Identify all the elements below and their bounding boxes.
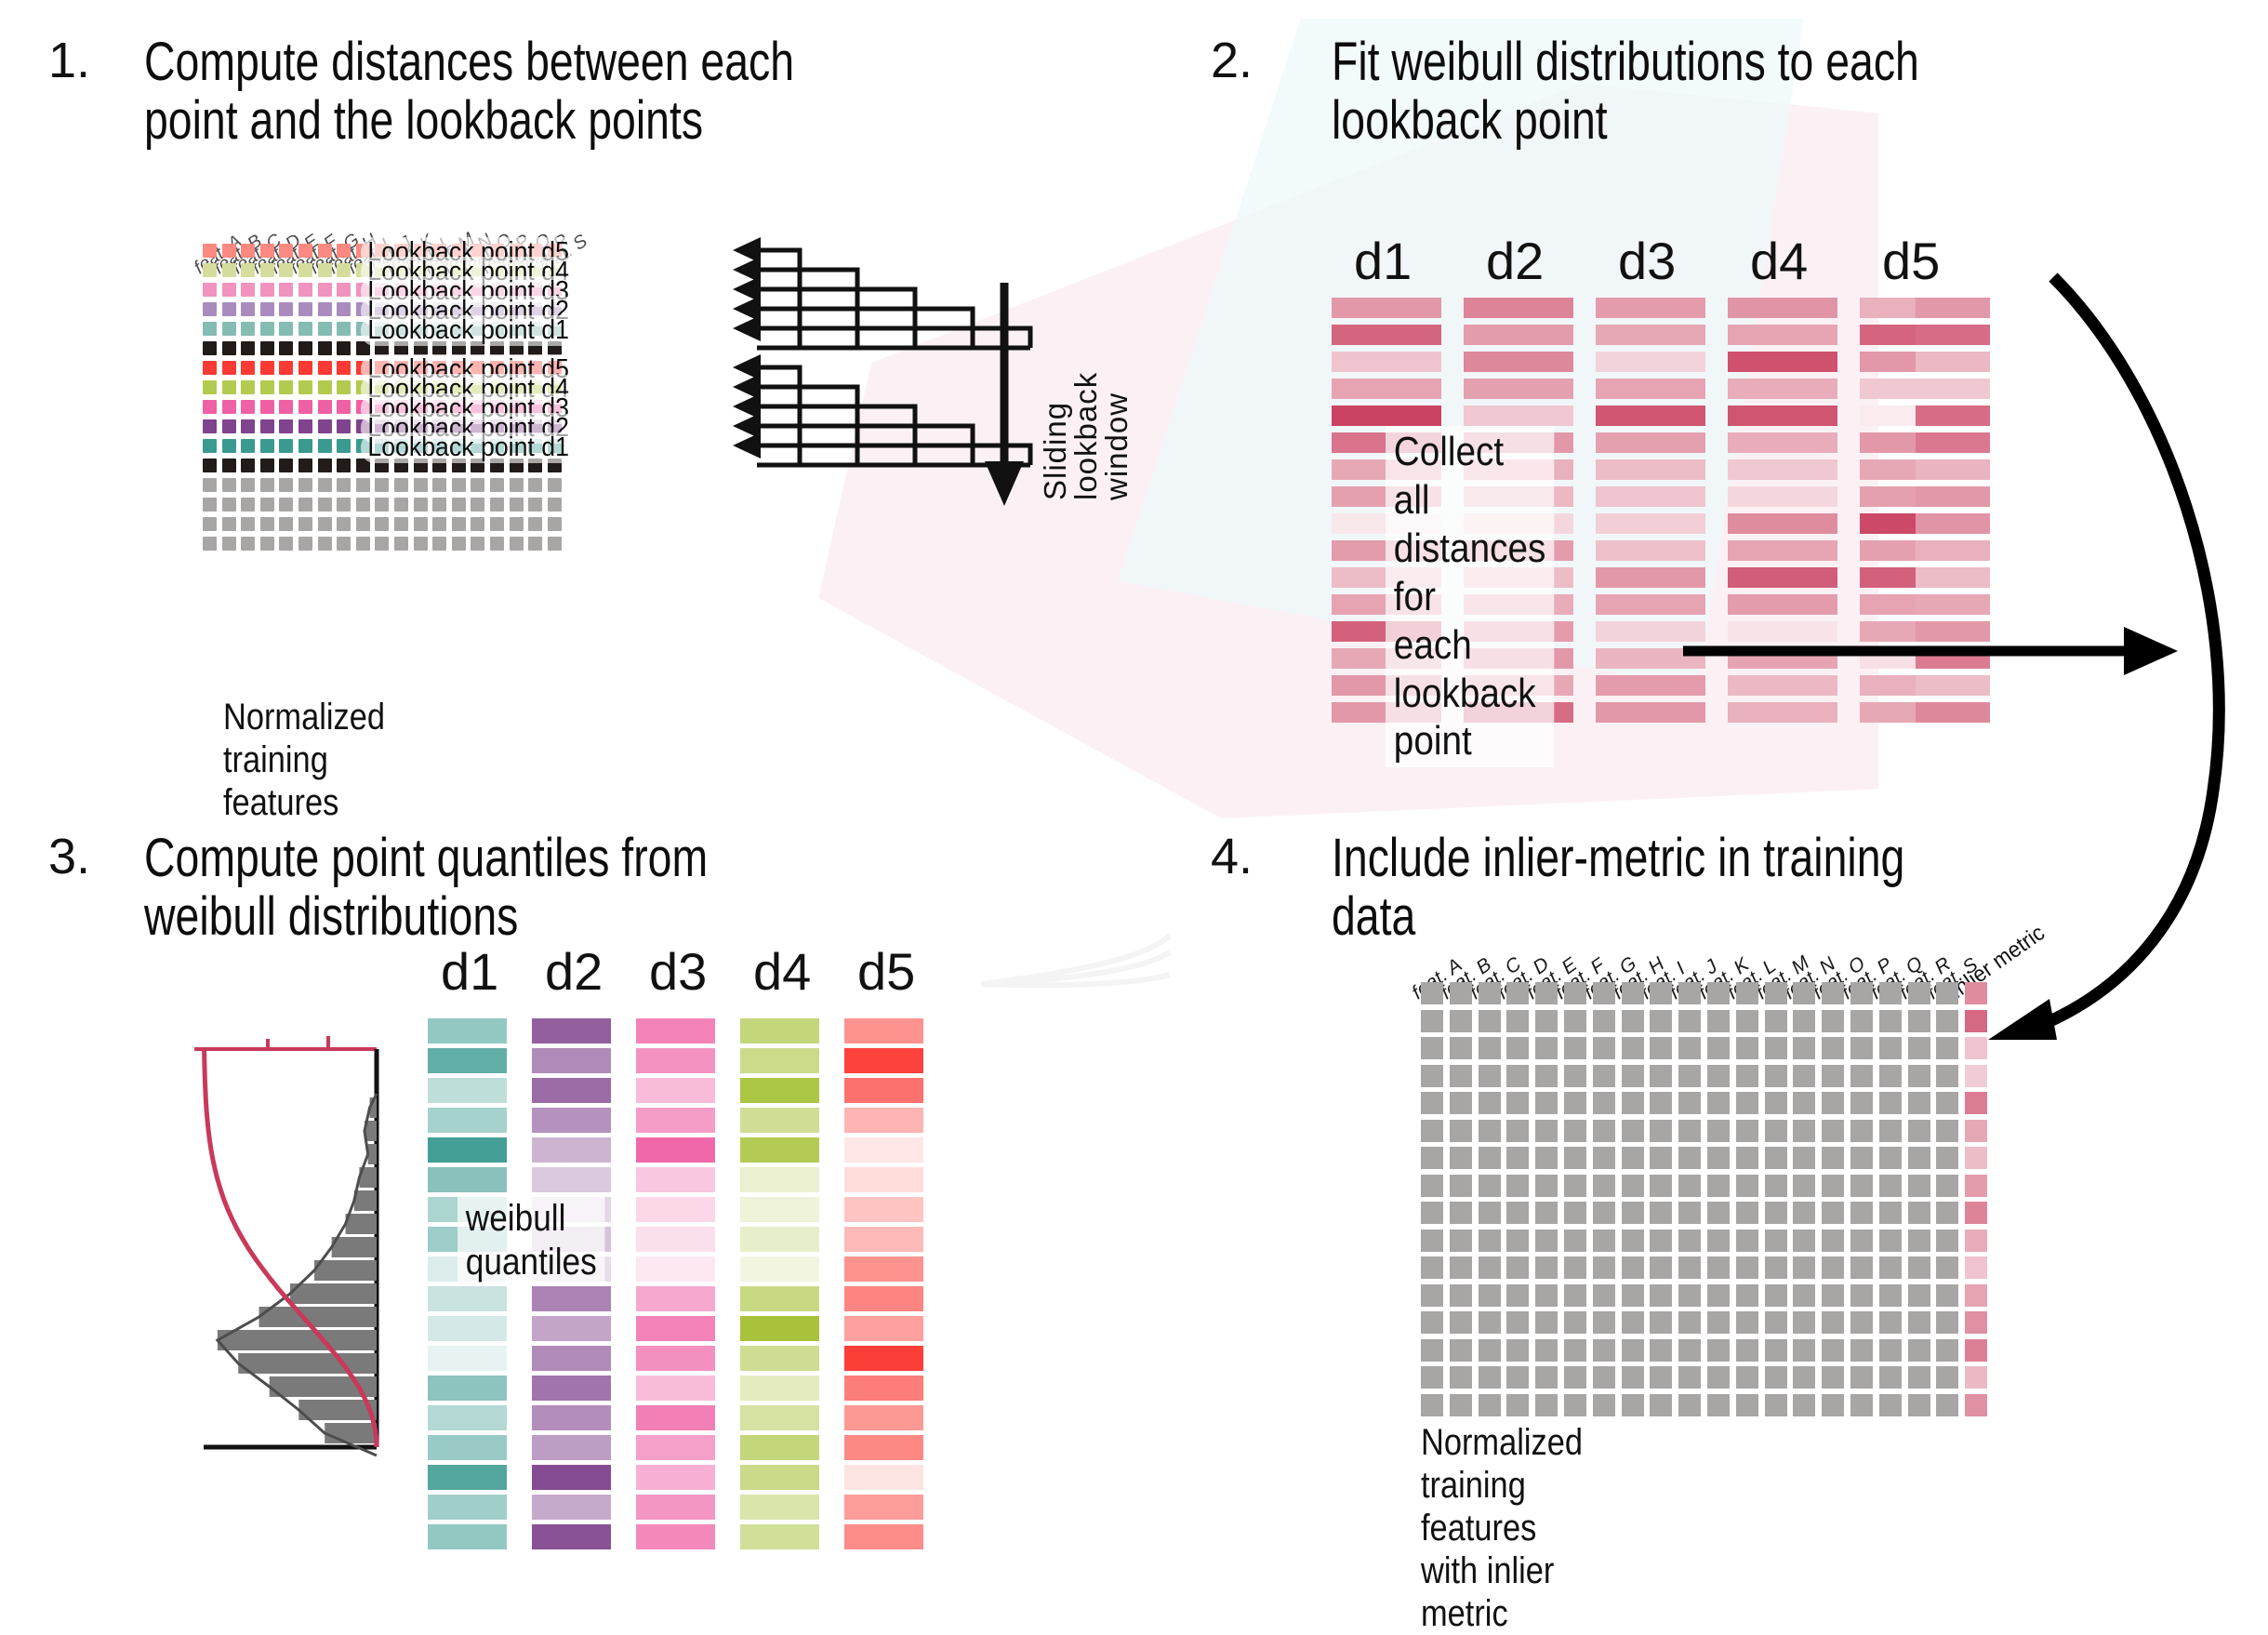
heatmap-cell bbox=[1879, 1120, 1902, 1142]
collect-distances-label: weibull quantiles bbox=[458, 1195, 604, 1286]
heatmap-cell bbox=[1564, 1230, 1586, 1252]
distance-cell bbox=[740, 1376, 819, 1401]
heatmap-cell bbox=[260, 322, 274, 336]
quantile-cell bbox=[1596, 298, 1705, 318]
heatmap-cell bbox=[260, 380, 274, 394]
heatmap-cell bbox=[260, 498, 274, 512]
heatmap-cell bbox=[1564, 1284, 1586, 1307]
step-1-number: 1. bbox=[48, 32, 90, 89]
table-row bbox=[203, 498, 566, 512]
distance-cell bbox=[428, 1108, 507, 1133]
heatmap-cell bbox=[548, 517, 562, 531]
heatmap-cell bbox=[1450, 1037, 1472, 1059]
heatmap-cell bbox=[1793, 1065, 1815, 1087]
heatmap-cell bbox=[1936, 1394, 1958, 1416]
heatmap-cell bbox=[1936, 1202, 1958, 1224]
heatmap-cell bbox=[337, 380, 351, 394]
distance-cell bbox=[844, 1495, 923, 1520]
heatmap-cell bbox=[1908, 1037, 1930, 1059]
distance-cell bbox=[740, 1346, 819, 1371]
quantile-cell bbox=[1728, 540, 1837, 561]
heatmap-cell bbox=[1535, 1256, 1558, 1279]
heatmap-cell bbox=[1850, 1147, 1873, 1169]
heatmap-cell bbox=[1736, 1037, 1758, 1059]
heatmap-cell bbox=[1908, 1147, 1930, 1169]
histogram-bar bbox=[325, 1423, 377, 1443]
heatmap-cell bbox=[1822, 1037, 1844, 1059]
heatmap-cell bbox=[1450, 982, 1472, 1004]
histogram-bar bbox=[314, 1260, 377, 1281]
lookback-point-caption: Lookback point d1 bbox=[361, 432, 576, 463]
heatmap-cell bbox=[1535, 1202, 1558, 1224]
heatmap-cell bbox=[1650, 1339, 1672, 1362]
heatmap-cell bbox=[241, 439, 255, 453]
heatmap-cell bbox=[1479, 1230, 1501, 1252]
heatmap-cell bbox=[1707, 1284, 1730, 1307]
heatmap-cell bbox=[1450, 1010, 1472, 1032]
lookback-point-caption: Lookback point d1 bbox=[361, 315, 576, 346]
heatmap-cell bbox=[1506, 1256, 1529, 1279]
heatmap-cell bbox=[432, 517, 446, 531]
heatmap-cell bbox=[279, 302, 293, 316]
heatmap-cell bbox=[279, 537, 293, 551]
quantile-cell bbox=[1464, 298, 1573, 318]
heatmap-cell bbox=[548, 478, 562, 492]
heatmap-cell bbox=[1908, 1092, 1930, 1114]
heatmap-cell bbox=[1479, 1092, 1501, 1114]
heatmap-cell bbox=[1506, 1366, 1529, 1389]
distance-cell bbox=[740, 1435, 819, 1460]
heatmap-cell bbox=[1479, 1147, 1501, 1169]
heatmap-cell bbox=[1908, 1284, 1930, 1307]
heatmap-cell bbox=[1535, 1394, 1558, 1416]
heatmap-cell bbox=[414, 498, 428, 512]
distance-cell bbox=[428, 1167, 507, 1192]
heatmap-cell bbox=[1678, 1092, 1701, 1114]
heatmap-cell bbox=[1450, 1284, 1472, 1307]
distance-cell bbox=[428, 1405, 507, 1430]
heatmap-cell bbox=[1421, 1394, 1443, 1416]
heatmap-cell bbox=[318, 419, 332, 433]
heatmap-cell bbox=[375, 478, 389, 492]
heatmap-cell bbox=[279, 244, 293, 258]
heatmap-cell bbox=[1564, 1010, 1586, 1032]
heatmap-cell bbox=[298, 459, 312, 472]
heatmap-cell bbox=[222, 361, 236, 375]
heatmap-cell bbox=[318, 302, 332, 316]
heatmap-cell bbox=[241, 419, 255, 433]
heatmap-cell bbox=[1421, 1092, 1443, 1114]
heatmap-cell bbox=[279, 478, 293, 492]
heatmap-cell bbox=[1479, 1120, 1501, 1142]
quantile-cell bbox=[1596, 352, 1705, 372]
heatmap-cell bbox=[279, 439, 293, 453]
heatmap-cell bbox=[1535, 1037, 1558, 1059]
distance-cell bbox=[532, 1286, 611, 1311]
quantile-cell bbox=[1332, 379, 1441, 399]
heatmap-cell bbox=[1707, 1010, 1730, 1032]
inlier-metric-cell bbox=[1965, 1284, 1987, 1307]
heatmap-cell bbox=[414, 537, 428, 551]
heatmap-cell bbox=[1678, 1311, 1701, 1334]
heatmap-cell bbox=[1908, 1010, 1930, 1032]
heatmap-cell bbox=[1622, 1339, 1644, 1362]
heatmap-cell bbox=[375, 498, 389, 512]
heatmap-cell bbox=[1793, 1230, 1815, 1252]
heatmap-cell bbox=[1936, 1366, 1958, 1389]
heatmap-cell bbox=[1535, 1147, 1558, 1169]
distance-cell bbox=[740, 1078, 819, 1103]
heatmap-cell bbox=[1564, 1202, 1586, 1224]
table-row bbox=[203, 478, 566, 492]
distance-cell bbox=[844, 1405, 923, 1430]
heatmap-cell bbox=[1765, 1284, 1787, 1307]
heatmap-cell bbox=[1622, 1092, 1644, 1114]
sliding-window-arrow-icon bbox=[978, 279, 1043, 512]
weibull-cdf-plot bbox=[191, 1042, 386, 1451]
heatmap-cell bbox=[1793, 1175, 1815, 1197]
distance-cell bbox=[636, 1405, 715, 1430]
heatmap-cell bbox=[1850, 1202, 1873, 1224]
distance-cell bbox=[636, 1524, 715, 1549]
distance-cell bbox=[740, 1316, 819, 1341]
heatmap-cell bbox=[1506, 1175, 1529, 1197]
heatmap-cell bbox=[414, 517, 428, 531]
heatmap-cell bbox=[1506, 1394, 1529, 1416]
heatmap-cell bbox=[1850, 1120, 1873, 1142]
distance-cell bbox=[532, 1524, 611, 1549]
heatmap-cell bbox=[318, 400, 332, 414]
heatmap-cell bbox=[260, 517, 274, 531]
lookback-bracket bbox=[757, 406, 915, 465]
heatmap-cell bbox=[1650, 1256, 1672, 1279]
heatmap-cell bbox=[1450, 1065, 1472, 1087]
quantile-cell bbox=[1728, 486, 1837, 507]
heatmap-cell bbox=[1593, 1339, 1615, 1362]
heatmap-cell bbox=[1506, 1284, 1529, 1307]
heatmap-cell bbox=[1678, 1202, 1701, 1224]
distance-cell bbox=[636, 1048, 715, 1073]
heatmap-cell bbox=[203, 283, 217, 297]
heatmap-cell bbox=[1678, 1175, 1701, 1197]
heatmap-cell bbox=[1622, 1256, 1644, 1279]
heatmap-cell bbox=[1765, 1065, 1787, 1087]
heatmap-cell bbox=[260, 419, 274, 433]
heatmap-cell bbox=[318, 517, 332, 531]
heatmap-cell bbox=[1850, 1311, 1873, 1334]
heatmap-cell bbox=[279, 517, 293, 531]
watermark bbox=[986, 1153, 1046, 1474]
heatmap-cell bbox=[1593, 1010, 1615, 1032]
heatmap-cell bbox=[1765, 1339, 1787, 1362]
heatmap-cell bbox=[318, 380, 332, 394]
heatmap-cell bbox=[1765, 1366, 1787, 1389]
quantile-cell bbox=[1332, 298, 1441, 318]
heatmap-cell bbox=[1736, 1202, 1758, 1224]
heatmap-cell bbox=[1850, 1256, 1873, 1279]
distance-cell bbox=[428, 1286, 507, 1311]
heatmap-cell bbox=[1765, 1092, 1787, 1114]
heatmap-cell bbox=[1450, 1202, 1472, 1224]
heatmap-cell bbox=[260, 537, 274, 551]
heatmap-cell bbox=[1765, 1311, 1787, 1334]
heatmap-cell bbox=[1908, 1175, 1930, 1197]
heatmap-cell bbox=[337, 283, 351, 297]
inlier-metric-cell bbox=[1965, 1065, 1987, 1087]
heatmap-cell bbox=[318, 322, 332, 336]
quantile-cell bbox=[1596, 325, 1705, 345]
heatmap-cell bbox=[432, 537, 446, 551]
heatmap-cell bbox=[1650, 1037, 1672, 1059]
heatmap-cell bbox=[260, 459, 274, 472]
distance-cell bbox=[740, 1524, 819, 1549]
heatmap-cell bbox=[1593, 1175, 1615, 1197]
heatmap-cell bbox=[260, 263, 274, 277]
weibull-quantiles-label: Collect all distances for each lookback … bbox=[1386, 426, 1554, 767]
quantile-cell bbox=[1728, 567, 1837, 588]
heatmap-cell bbox=[1822, 1202, 1844, 1224]
heatmap-cell bbox=[1822, 1394, 1844, 1416]
heatmap-cell bbox=[1879, 1256, 1902, 1279]
heatmap-cell bbox=[1936, 1120, 1958, 1142]
heatmap-cell bbox=[1535, 1175, 1558, 1197]
heatmap-cell bbox=[1650, 1092, 1672, 1114]
heatmap-cell bbox=[490, 498, 504, 512]
heatmap-cell bbox=[1506, 1092, 1529, 1114]
heatmap-cell bbox=[298, 322, 312, 336]
heatmap-cell bbox=[1421, 1311, 1443, 1334]
heatmap-cell bbox=[1678, 1366, 1701, 1389]
heatmap-cell bbox=[222, 498, 236, 512]
heatmap-cell bbox=[298, 283, 312, 297]
heatmap-cell bbox=[1822, 1284, 1844, 1307]
quantile-cell bbox=[1332, 352, 1441, 372]
heatmap-cell bbox=[1622, 1065, 1644, 1087]
sliding-window-label: Sliding lookback window bbox=[1040, 277, 1132, 500]
distance-cell bbox=[740, 1018, 819, 1043]
heatmap-cell bbox=[1593, 1366, 1615, 1389]
heatmap-cell bbox=[1793, 1284, 1815, 1307]
heatmap-cell bbox=[337, 341, 351, 355]
panel3-column-label: d4 bbox=[1750, 231, 1808, 291]
distance-cell bbox=[844, 1197, 923, 1222]
quantile-cell bbox=[1596, 702, 1705, 723]
heatmap-cell bbox=[1850, 1339, 1873, 1362]
heatmap-cell bbox=[222, 419, 236, 433]
heatmap-cell bbox=[1736, 1366, 1758, 1389]
quantile-cell bbox=[1332, 405, 1441, 426]
heatmap-cell bbox=[222, 322, 236, 336]
heatmap-cell bbox=[1822, 1065, 1844, 1087]
heatmap-cell bbox=[1936, 1256, 1958, 1279]
heatmap-cell bbox=[471, 498, 484, 512]
distance-cell bbox=[636, 1167, 715, 1192]
step-4-number: 4. bbox=[1211, 828, 1253, 885]
heatmap-cell bbox=[1908, 1202, 1930, 1224]
heatmap-cell bbox=[1707, 1147, 1730, 1169]
quantile-cell bbox=[1596, 486, 1705, 507]
heatmap-cell bbox=[260, 400, 274, 414]
panel1-caption: Normalized training features bbox=[223, 696, 385, 824]
heatmap-cell bbox=[452, 498, 466, 512]
heatmap-cell bbox=[337, 419, 351, 433]
heatmap-cell bbox=[1707, 1339, 1730, 1362]
distance-cell bbox=[428, 1524, 507, 1549]
heatmap-cell bbox=[1736, 1010, 1758, 1032]
distance-cell bbox=[844, 1167, 923, 1192]
heatmap-cell bbox=[1879, 1065, 1902, 1087]
distance-cell bbox=[428, 1435, 507, 1460]
heatmap-cell bbox=[1564, 1256, 1586, 1279]
heatmap-cell bbox=[1421, 1147, 1443, 1169]
heatmap-cell bbox=[318, 459, 332, 472]
step-3-title: Fit weibull distributions to each lookba… bbox=[1332, 33, 2150, 150]
quantile-cell bbox=[1728, 405, 1837, 426]
heatmap-cell bbox=[1535, 1339, 1558, 1362]
heatmap-cell bbox=[1593, 1065, 1615, 1087]
heatmap-cell bbox=[548, 537, 562, 551]
heatmap-cell bbox=[1593, 982, 1615, 1004]
distance-cell bbox=[740, 1256, 819, 1282]
heatmap-cell bbox=[1622, 1010, 1644, 1032]
heatmap-cell bbox=[203, 244, 217, 258]
heatmap-cell bbox=[356, 478, 370, 492]
heatmap-cell bbox=[1707, 982, 1730, 1004]
histogram-bar bbox=[346, 1214, 377, 1234]
heatmap-cell bbox=[318, 439, 332, 453]
heatmap-cell bbox=[318, 263, 332, 277]
distance-cell bbox=[532, 1137, 611, 1163]
heatmap-cell bbox=[260, 244, 274, 258]
cdf-plot-svg bbox=[191, 1042, 386, 1451]
heatmap-cell bbox=[1793, 1394, 1815, 1416]
heatmap-cell bbox=[222, 439, 236, 453]
heatmap-cell bbox=[1793, 1311, 1815, 1334]
heatmap-cell bbox=[241, 400, 255, 414]
heatmap-cell bbox=[1622, 1230, 1644, 1252]
quantile-cell bbox=[1596, 540, 1705, 561]
heatmap-cell bbox=[1650, 1120, 1672, 1142]
heatmap-cell bbox=[1707, 1256, 1730, 1279]
heatmap-cell bbox=[1622, 1037, 1644, 1059]
heatmap-cell bbox=[1822, 1366, 1844, 1389]
distance-cell bbox=[844, 1018, 923, 1043]
heatmap-cell bbox=[1506, 1339, 1529, 1362]
distance-cell bbox=[740, 1167, 819, 1192]
heatmap-cell bbox=[1535, 1120, 1558, 1142]
heatmap-cell bbox=[1793, 1092, 1815, 1114]
heatmap-cell bbox=[1879, 1284, 1902, 1307]
heatmap-cell bbox=[528, 537, 542, 551]
histogram-bar bbox=[332, 1237, 377, 1257]
inlier-metric-cell bbox=[1965, 1339, 1987, 1362]
heatmap-cell bbox=[203, 498, 217, 512]
panel3-column-label: d2 bbox=[1486, 231, 1544, 291]
distance-cell bbox=[740, 1137, 819, 1163]
heatmap-cell bbox=[222, 302, 236, 316]
heatmap-cell bbox=[1564, 1175, 1586, 1197]
quantile-cell bbox=[1728, 379, 1837, 399]
heatmap-cell bbox=[1707, 1175, 1730, 1197]
heatmap-cell bbox=[1450, 1120, 1472, 1142]
heatmap-cell bbox=[1593, 1092, 1615, 1114]
heatmap-cell bbox=[1765, 1230, 1787, 1252]
distance-cell bbox=[428, 1465, 507, 1490]
distance-cell bbox=[532, 1376, 611, 1401]
heatmap-cell bbox=[203, 263, 217, 277]
quantile-cell bbox=[1596, 594, 1705, 615]
heatmap-cell bbox=[1879, 1037, 1902, 1059]
heatmap-cell bbox=[1908, 982, 1930, 1004]
heatmap-cell bbox=[1822, 1147, 1844, 1169]
heatmap-cell bbox=[1736, 1311, 1758, 1334]
heatmap-cell bbox=[1765, 1256, 1787, 1279]
heatmap-cell bbox=[203, 459, 217, 472]
quantile-cell bbox=[1464, 352, 1573, 372]
heatmap-cell bbox=[337, 498, 351, 512]
heatmap-cell bbox=[1421, 1366, 1443, 1389]
panel2-column-label: d1 bbox=[441, 941, 498, 1002]
heatmap-cell bbox=[203, 400, 217, 414]
distance-cell bbox=[428, 1495, 507, 1520]
heatmap-cell bbox=[1450, 1366, 1472, 1389]
quantile-cell bbox=[1728, 432, 1837, 453]
heatmap-cell bbox=[1535, 1092, 1558, 1114]
heatmap-cell bbox=[1450, 1256, 1472, 1279]
heatmap-cell bbox=[337, 361, 351, 375]
step-3-number: 2. bbox=[1211, 32, 1253, 89]
heatmap-cell bbox=[1479, 1065, 1501, 1087]
heatmap-cell bbox=[1479, 1010, 1501, 1032]
heatmap-cell bbox=[1622, 1175, 1644, 1197]
inlier-metric-cell bbox=[1965, 1092, 1987, 1114]
heatmap-cell bbox=[1564, 1092, 1586, 1114]
distance-cell bbox=[636, 1495, 715, 1520]
heatmap-cell bbox=[298, 478, 312, 492]
step-2-title: Compute point quantiles from weibull dis… bbox=[144, 830, 962, 946]
histogram-bar bbox=[259, 1307, 377, 1327]
distance-cell bbox=[844, 1256, 923, 1282]
heatmap-cell bbox=[337, 322, 351, 336]
distance-cell bbox=[532, 1048, 611, 1073]
heatmap-cell bbox=[1793, 982, 1815, 1004]
distance-cell bbox=[844, 1227, 923, 1252]
heatmap-cell bbox=[1622, 1120, 1644, 1142]
heatmap-cell bbox=[279, 341, 293, 355]
heatmap-cell bbox=[203, 341, 217, 355]
heatmap-cell bbox=[318, 283, 332, 297]
heatmap-cell bbox=[1879, 1147, 1902, 1169]
heatmap-cell bbox=[394, 478, 408, 492]
inlier-metric-formula bbox=[1581, 671, 1595, 752]
heatmap-cell bbox=[1765, 1202, 1787, 1224]
heatmap-cell bbox=[203, 419, 217, 433]
step-2-number: 3. bbox=[48, 828, 90, 885]
heatmap-cell bbox=[1936, 1092, 1958, 1114]
heatmap-cell bbox=[1936, 1339, 1958, 1362]
heatmap-cell bbox=[1421, 1202, 1443, 1224]
heatmap-cell bbox=[1650, 982, 1672, 1004]
heatmap-cell bbox=[1564, 1394, 1586, 1416]
quantile-cell bbox=[1728, 702, 1837, 723]
heatmap-cell bbox=[1793, 1010, 1815, 1032]
panel3-column-label: d1 bbox=[1354, 231, 1412, 291]
quantile-cell bbox=[1728, 594, 1837, 615]
heatmap-cell bbox=[1593, 1311, 1615, 1334]
heatmap-cell bbox=[298, 341, 312, 355]
heatmap-cell bbox=[1908, 1339, 1930, 1362]
quantile-cell bbox=[1596, 567, 1705, 588]
